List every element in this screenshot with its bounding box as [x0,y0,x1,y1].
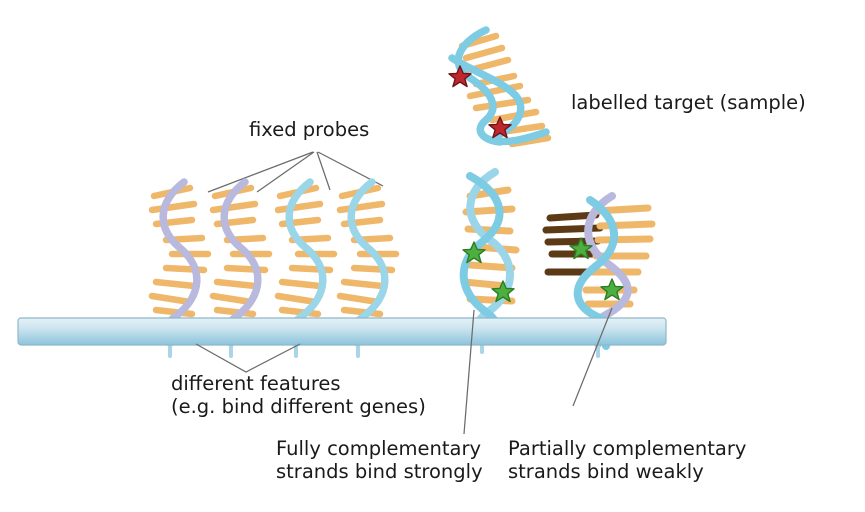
leader-lines-fixed-probes [208,152,383,192]
label-labelled-target: labelled target (sample) [571,91,806,114]
diagram-svg [0,0,865,512]
label-fully-complementary-line2: strands bind strongly [276,460,483,483]
label-fixed-probes: fixed probes [249,118,369,141]
microarray-slide [18,318,666,345]
free-labelled-target [449,30,548,144]
label-different-features-line1: different features [171,372,341,395]
label-different-features-line2: (e.g. bind different genes) [171,395,426,418]
label-partially-complementary-line1: Partially complementary [508,437,746,460]
diagram-canvas: fixed probes labelled target (sample) di… [0,0,865,512]
label-partially-complementary-line2: strands bind weakly [508,460,704,483]
leader-line-different-features [196,344,300,372]
label-fully-complementary-line1: Fully complementary [276,437,481,460]
